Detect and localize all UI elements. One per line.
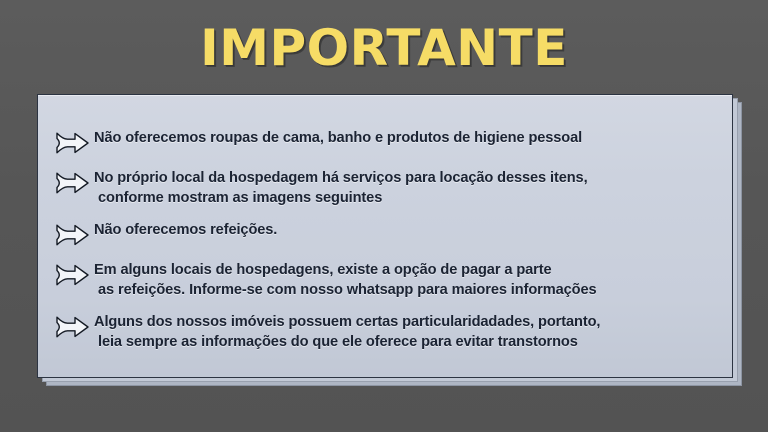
right-block-arrow-icon: [54, 170, 92, 196]
list-item-line: conforme mostram as imagens seguintes: [94, 189, 724, 209]
list-item-text: Não oferecemos refeições.: [94, 221, 724, 241]
list-item: Não oferecemos refeições.: [54, 221, 724, 248]
list-item: Em alguns locais de hospedagens, existe …: [54, 261, 724, 300]
list-item-text: No próprio local da hospedagem há serviç…: [94, 169, 724, 208]
right-block-arrow-icon: [54, 262, 92, 288]
list-item-line: Não oferecemos roupas de cama, banho e p…: [94, 129, 724, 149]
right-block-arrow-icon: [54, 130, 92, 156]
list-item-text: Não oferecemos roupas de cama, banho e p…: [94, 129, 724, 149]
content-panel: Não oferecemos roupas de cama, banho e p…: [37, 94, 733, 378]
right-block-arrow-icon: [54, 314, 92, 340]
list-item-line: Alguns dos nossos imóveis possuem certas…: [94, 313, 724, 333]
list-item: Não oferecemos roupas de cama, banho e p…: [54, 129, 724, 156]
list-item: No próprio local da hospedagem há serviç…: [54, 169, 724, 208]
bullet-list: Não oferecemos roupas de cama, banho e p…: [54, 129, 724, 365]
right-block-arrow-icon: [54, 222, 92, 248]
list-item-line: Não oferecemos refeições.: [94, 221, 724, 241]
list-item-line: No próprio local da hospedagem há serviç…: [94, 169, 724, 189]
list-item-line: as refeições. Informe-se com nosso whats…: [94, 281, 724, 301]
page-title: IMPORTANTE: [0, 20, 768, 76]
slide-canvas: IMPORTANTE Não oferecemos roupas de cama…: [0, 0, 768, 432]
list-item-text: Em alguns locais de hospedagens, existe …: [94, 261, 724, 300]
list-item-line: leia sempre as informações do que ele of…: [94, 333, 724, 353]
list-item: Alguns dos nossos imóveis possuem certas…: [54, 313, 724, 352]
list-item-line: Em alguns locais de hospedagens, existe …: [94, 261, 724, 281]
list-item-text: Alguns dos nossos imóveis possuem certas…: [94, 313, 724, 352]
